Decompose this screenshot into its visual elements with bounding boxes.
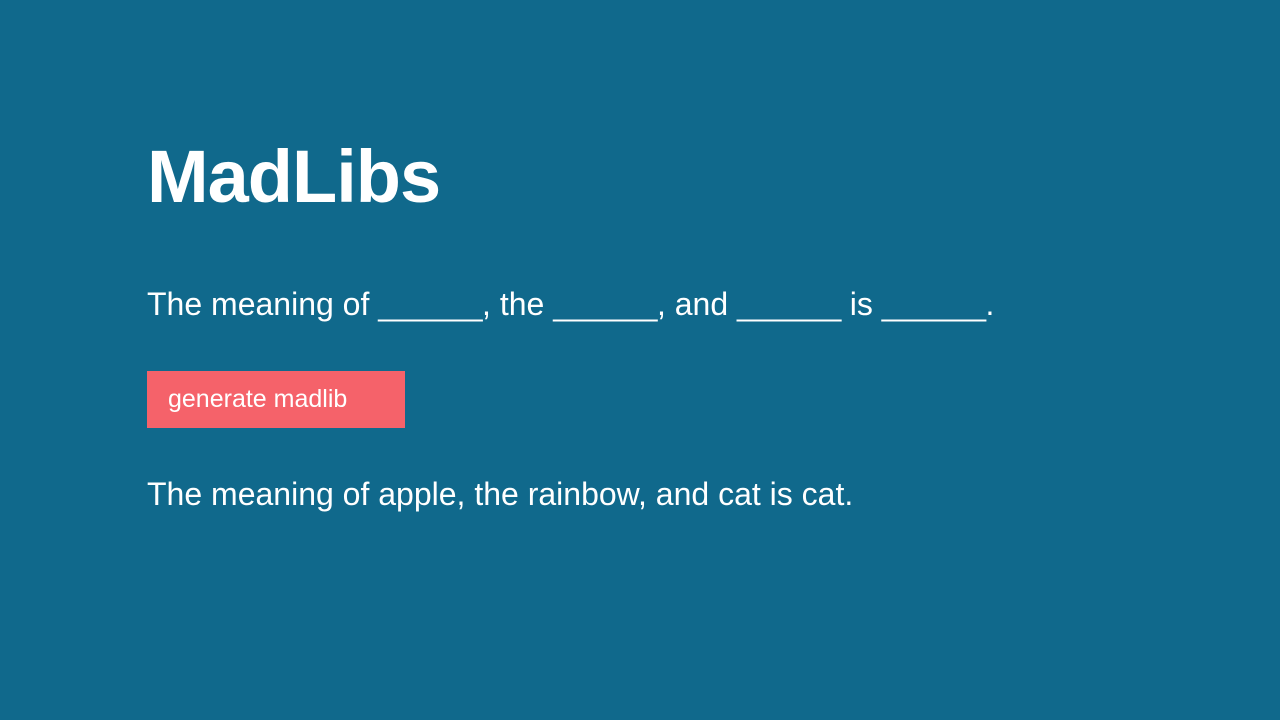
page-title: MadLibs xyxy=(147,134,440,220)
template-separator-1: , the xyxy=(482,286,553,322)
madlib-app: MadLibs The meaning of ______, the _____… xyxy=(0,0,1280,720)
generate-madlib-button[interactable]: generate madlib xyxy=(147,371,405,428)
template-separator-2: , and xyxy=(657,286,737,322)
template-lead-text: The meaning of xyxy=(147,286,378,322)
madlib-blank-4: ______ xyxy=(882,283,986,325)
template-tail-text: . xyxy=(985,286,994,322)
madlib-output-sentence: The meaning of apple, the rainbow, and c… xyxy=(147,473,853,515)
madlib-blank-3: ______ xyxy=(737,283,841,325)
madlib-blank-1: ______ xyxy=(378,283,482,325)
template-separator-3: is xyxy=(841,286,882,322)
madlib-blank-2: ______ xyxy=(553,283,657,325)
madlib-template-sentence: The meaning of ______, the ______, and _… xyxy=(147,283,994,325)
